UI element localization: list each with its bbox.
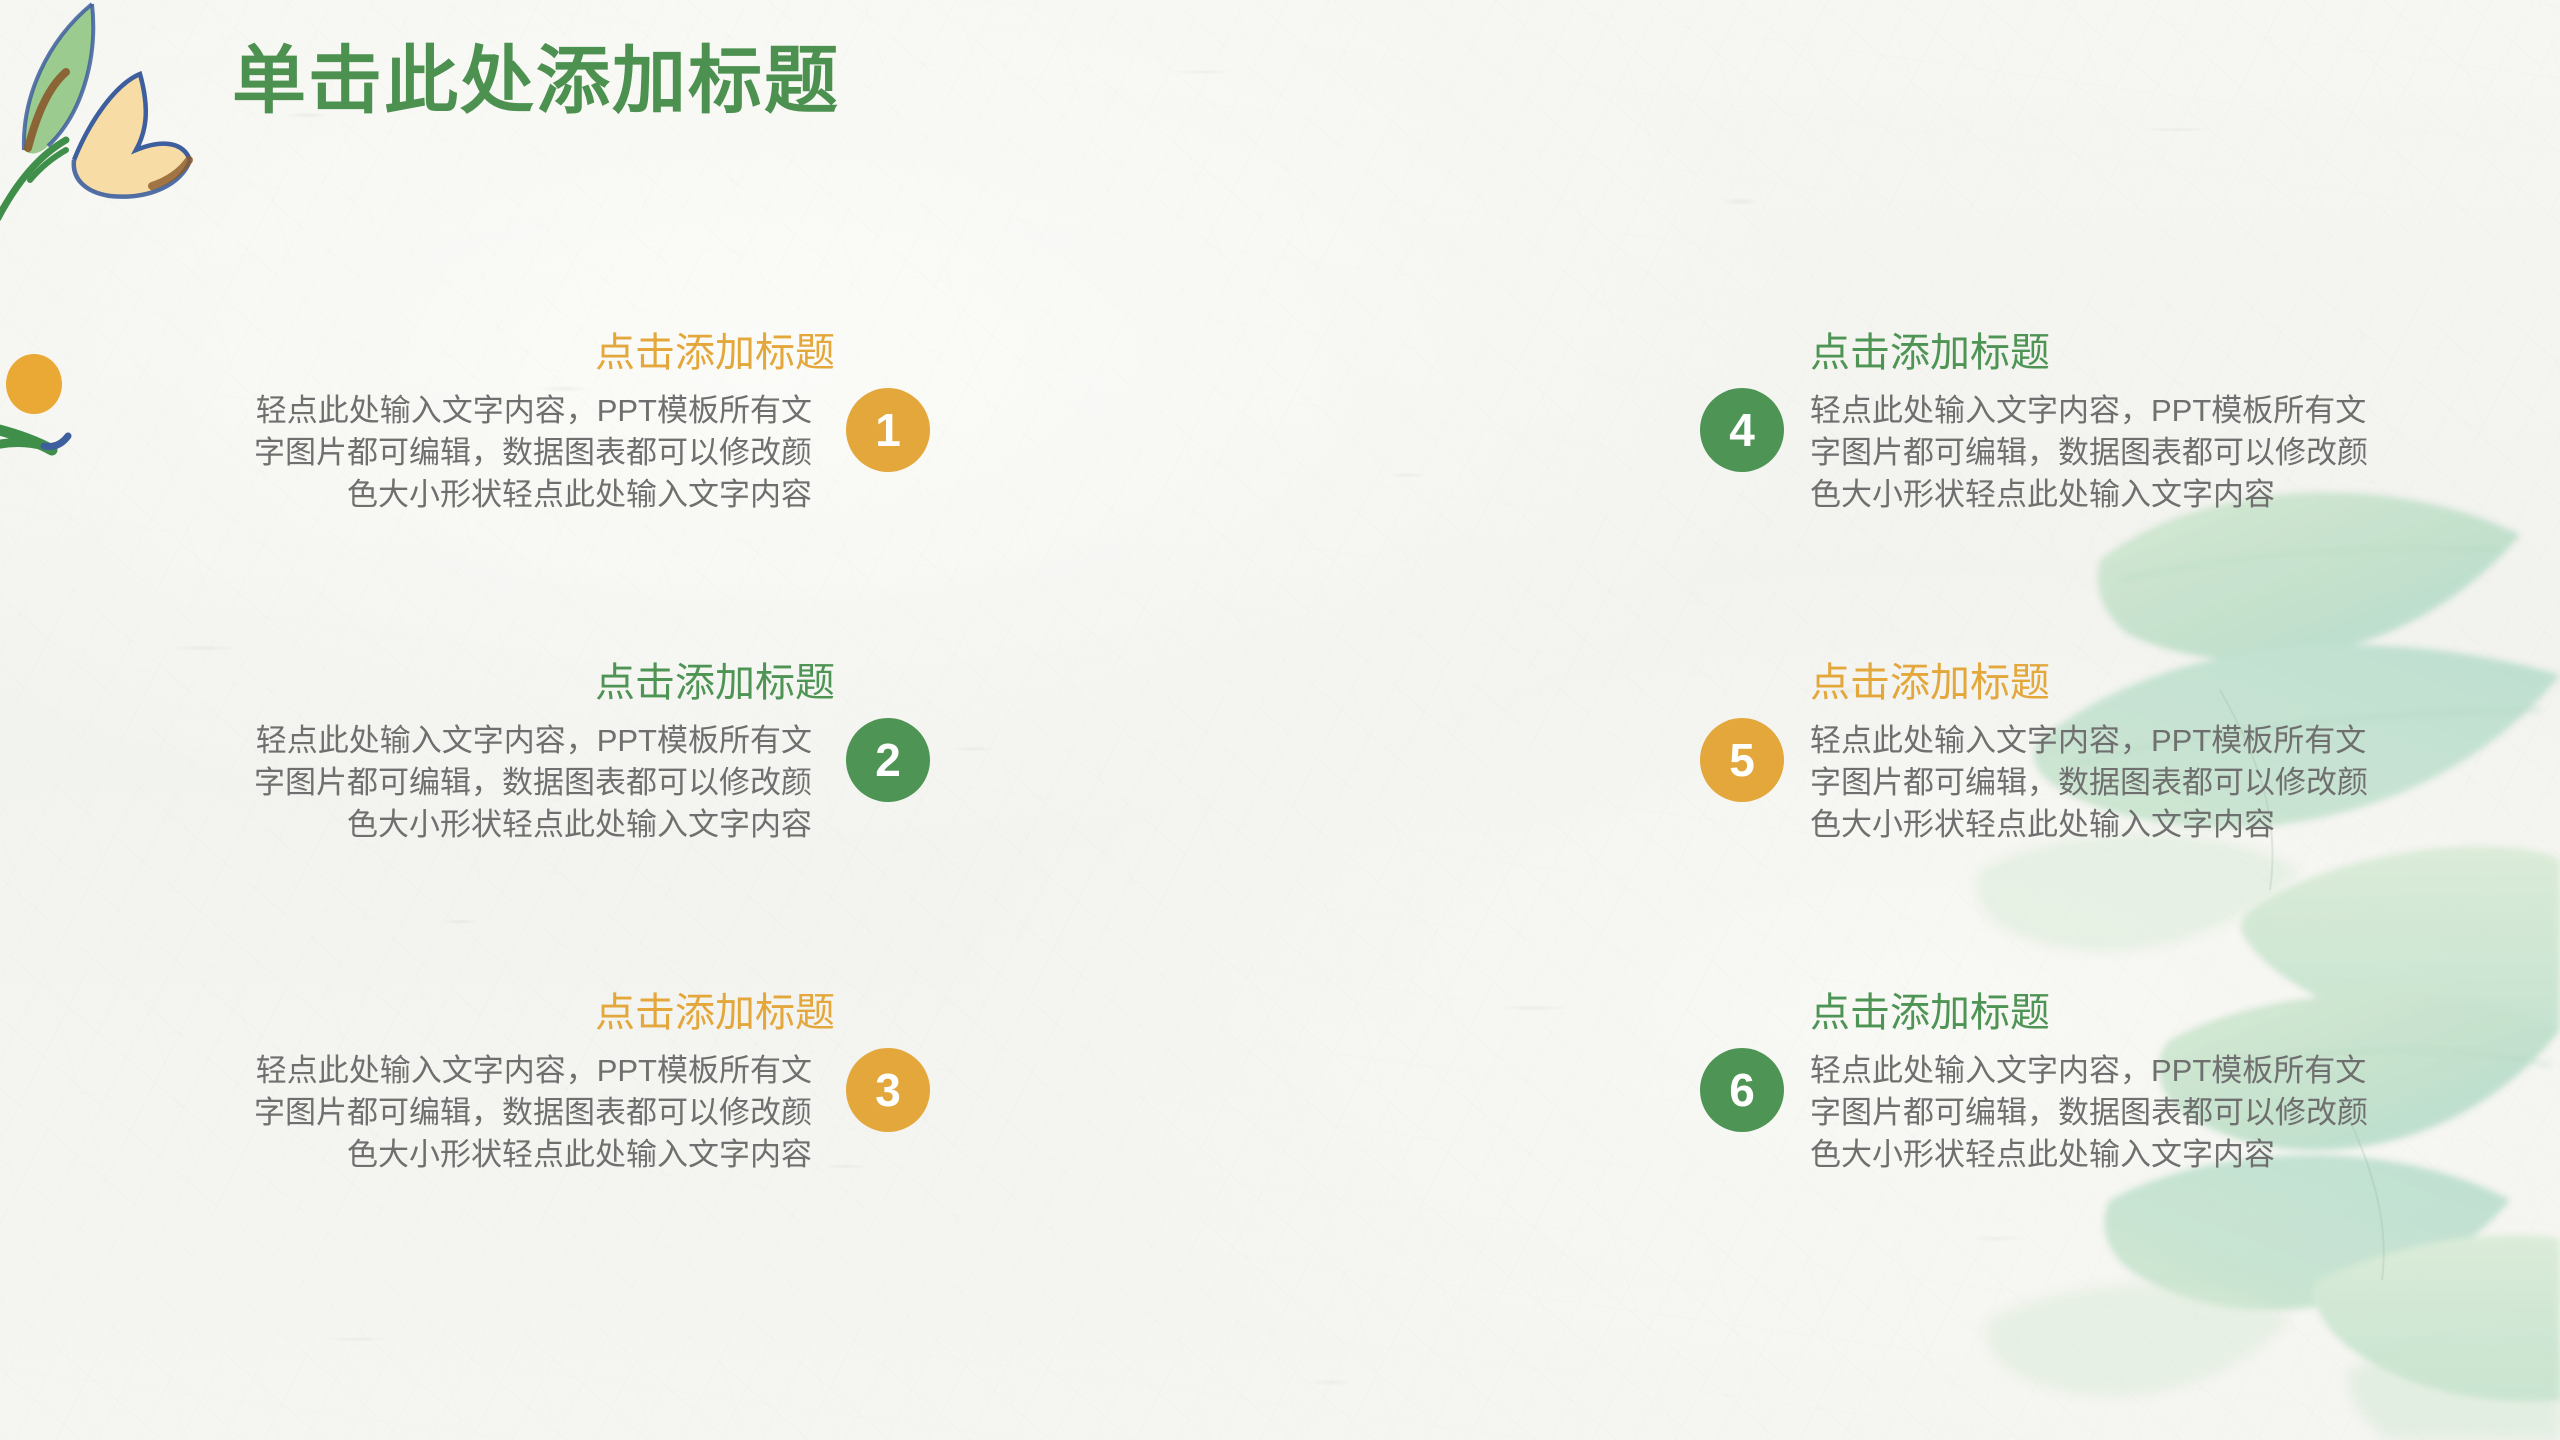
content-block-1[interactable]: 点击添加标题 轻点此处输入文字内容，PPT模板所有文字图片都可编辑，数据图表都可…	[230, 330, 930, 516]
content-block-6[interactable]: 点击添加标题 轻点此处输入文字内容，PPT模板所有文字图片都可编辑，数据图表都可…	[1700, 990, 2400, 1176]
block-body-6: 轻点此处输入文字内容，PPT模板所有文字图片都可编辑，数据图表都可以修改颜色大小…	[1700, 1050, 2390, 1176]
block-title-1: 点击添加标题	[230, 330, 930, 376]
step-badge-6[interactable]: 6	[1700, 1048, 1784, 1132]
step-badge-5[interactable]: 5	[1700, 718, 1784, 802]
step-badge-1[interactable]: 1	[846, 388, 930, 472]
step-badge-number-2: 2	[875, 737, 901, 783]
step-badge-number-4: 4	[1729, 407, 1755, 453]
step-badge-2[interactable]: 2	[846, 718, 930, 802]
block-title-4: 点击添加标题	[1700, 330, 2400, 376]
block-body-1: 轻点此处输入文字内容，PPT模板所有文字图片都可编辑，数据图表都可以修改颜色大小…	[230, 390, 907, 516]
step-badge-number-6: 6	[1729, 1067, 1755, 1113]
content-block-3[interactable]: 点击添加标题 轻点此处输入文字内容，PPT模板所有文字图片都可编辑，数据图表都可…	[230, 990, 930, 1176]
block-body-2: 轻点此处输入文字内容，PPT模板所有文字图片都可编辑，数据图表都可以修改颜色大小…	[230, 720, 907, 846]
content-block-2[interactable]: 点击添加标题 轻点此处输入文字内容，PPT模板所有文字图片都可编辑，数据图表都可…	[230, 660, 930, 846]
page-title: 单击此处添加标题	[232, 42, 840, 120]
block-body-4: 轻点此处输入文字内容，PPT模板所有文字图片都可编辑，数据图表都可以修改颜色大小…	[1700, 390, 2390, 516]
step-badge-4[interactable]: 4	[1700, 388, 1784, 472]
content-block-5[interactable]: 点击添加标题 轻点此处输入文字内容，PPT模板所有文字图片都可编辑，数据图表都可…	[1700, 660, 2400, 846]
step-badge-3[interactable]: 3	[846, 1048, 930, 1132]
step-badge-number-3: 3	[875, 1067, 901, 1113]
step-badge-number-1: 1	[875, 407, 901, 453]
block-title-6: 点击添加标题	[1700, 990, 2400, 1036]
block-body-5: 轻点此处输入文字内容，PPT模板所有文字图片都可编辑，数据图表都可以修改颜色大小…	[1700, 720, 2390, 846]
block-body-3: 轻点此处输入文字内容，PPT模板所有文字图片都可编辑，数据图表都可以修改颜色大小…	[230, 1050, 907, 1176]
slide-canvas: 单击此处添加标题 点击添加标题 轻点此处输入文字内容，PPT模板所有文字图片都可…	[0, 0, 2560, 1440]
block-title-2: 点击添加标题	[230, 660, 930, 706]
step-badge-number-5: 5	[1729, 737, 1755, 783]
block-title-5: 点击添加标题	[1700, 660, 2400, 706]
content-block-4[interactable]: 点击添加标题 轻点此处输入文字内容，PPT模板所有文字图片都可编辑，数据图表都可…	[1700, 330, 2400, 516]
block-title-3: 点击添加标题	[230, 990, 930, 1036]
